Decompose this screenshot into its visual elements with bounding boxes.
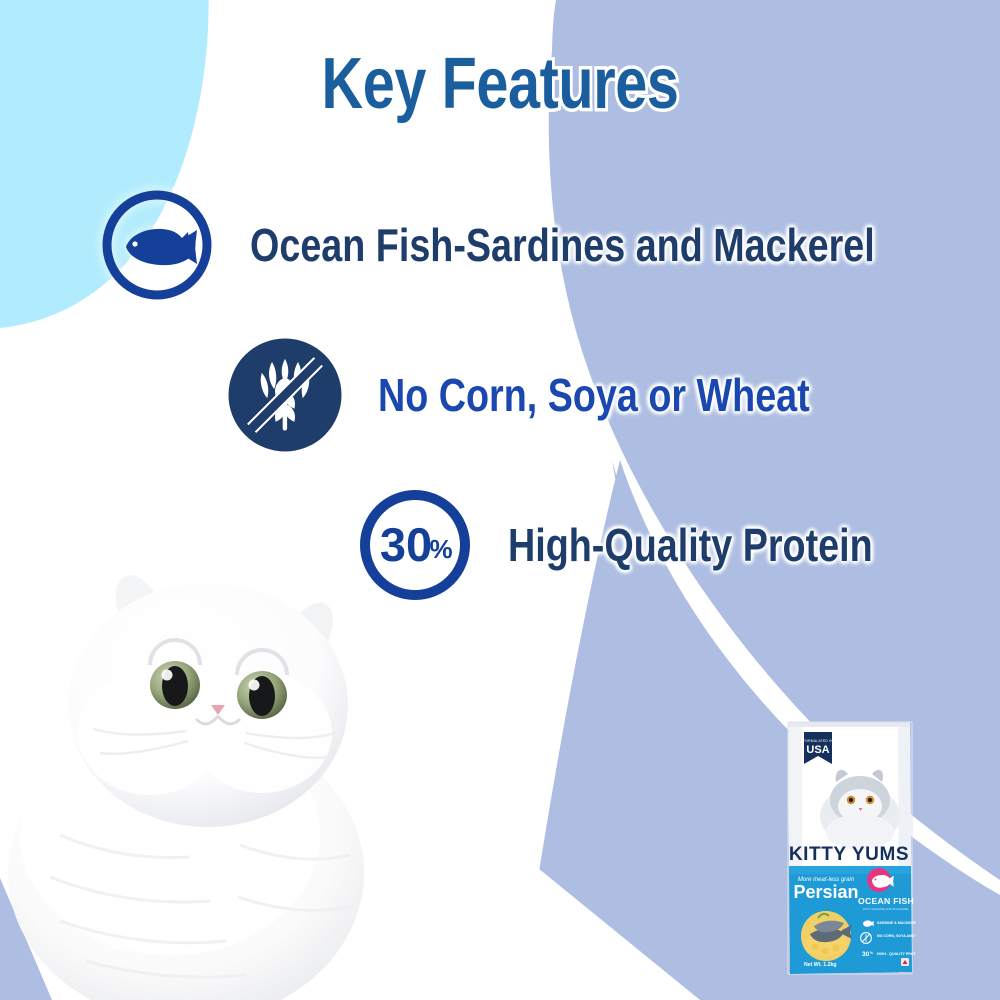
- feature-row-protein: 30 % High-Quality Protein: [356, 486, 953, 604]
- bag-claim-1: NO CORN, SOYA AND WHEAT: [877, 934, 916, 938]
- feature-row-ocean-fish: Ocean Fish-Sardines and Mackerel: [98, 186, 1000, 304]
- bag-protein-unit: %: [870, 951, 873, 955]
- feature-label: Ocean Fish-Sardines and Mackerel: [250, 218, 875, 272]
- bag-net-weight: Net Wt. 1.2kg: [804, 962, 837, 968]
- feature-row-no-grain: No Corn, Soya or Wheat: [226, 336, 904, 454]
- bag-band-highlight: [789, 866, 911, 874]
- bag-claim-2: HIGH - QUALITY PROTEIN: [877, 952, 916, 956]
- usa-badge-label: USA: [806, 744, 829, 756]
- bag-variant: Persian: [793, 882, 858, 902]
- product-bag[interactable]: FORMULATED IN USA KITTY YUMS Mor: [782, 708, 916, 980]
- protein-badge-unit: %: [429, 534, 452, 564]
- bag-flavour: OCEAN FISH: [858, 896, 914, 906]
- bag-brand-name: KITTY YUMS: [789, 844, 909, 865]
- fish-circle-icon: [98, 186, 216, 304]
- bag-protein-value: 30: [862, 951, 870, 958]
- feature-label: No Corn, Soya or Wheat: [378, 368, 810, 422]
- white-persian-cat-photo: [0, 505, 410, 1000]
- feature-label: High-Quality Protein: [508, 518, 873, 572]
- no-grain-icon: [226, 336, 344, 454]
- usa-badge-small: FORMULATED IN: [803, 739, 833, 743]
- bag-flavour-sub: WITH SARDINE AND MACKEREL: [863, 907, 910, 911]
- bag-top-seal: [788, 722, 910, 727]
- bag-claim-0: SARDINE & MACKEREL: [877, 921, 916, 925]
- page-title: Key Features: [100, 48, 900, 120]
- key-features-banner: Key Features Ocean Fish-Sardines and Mac…: [0, 0, 1000, 1000]
